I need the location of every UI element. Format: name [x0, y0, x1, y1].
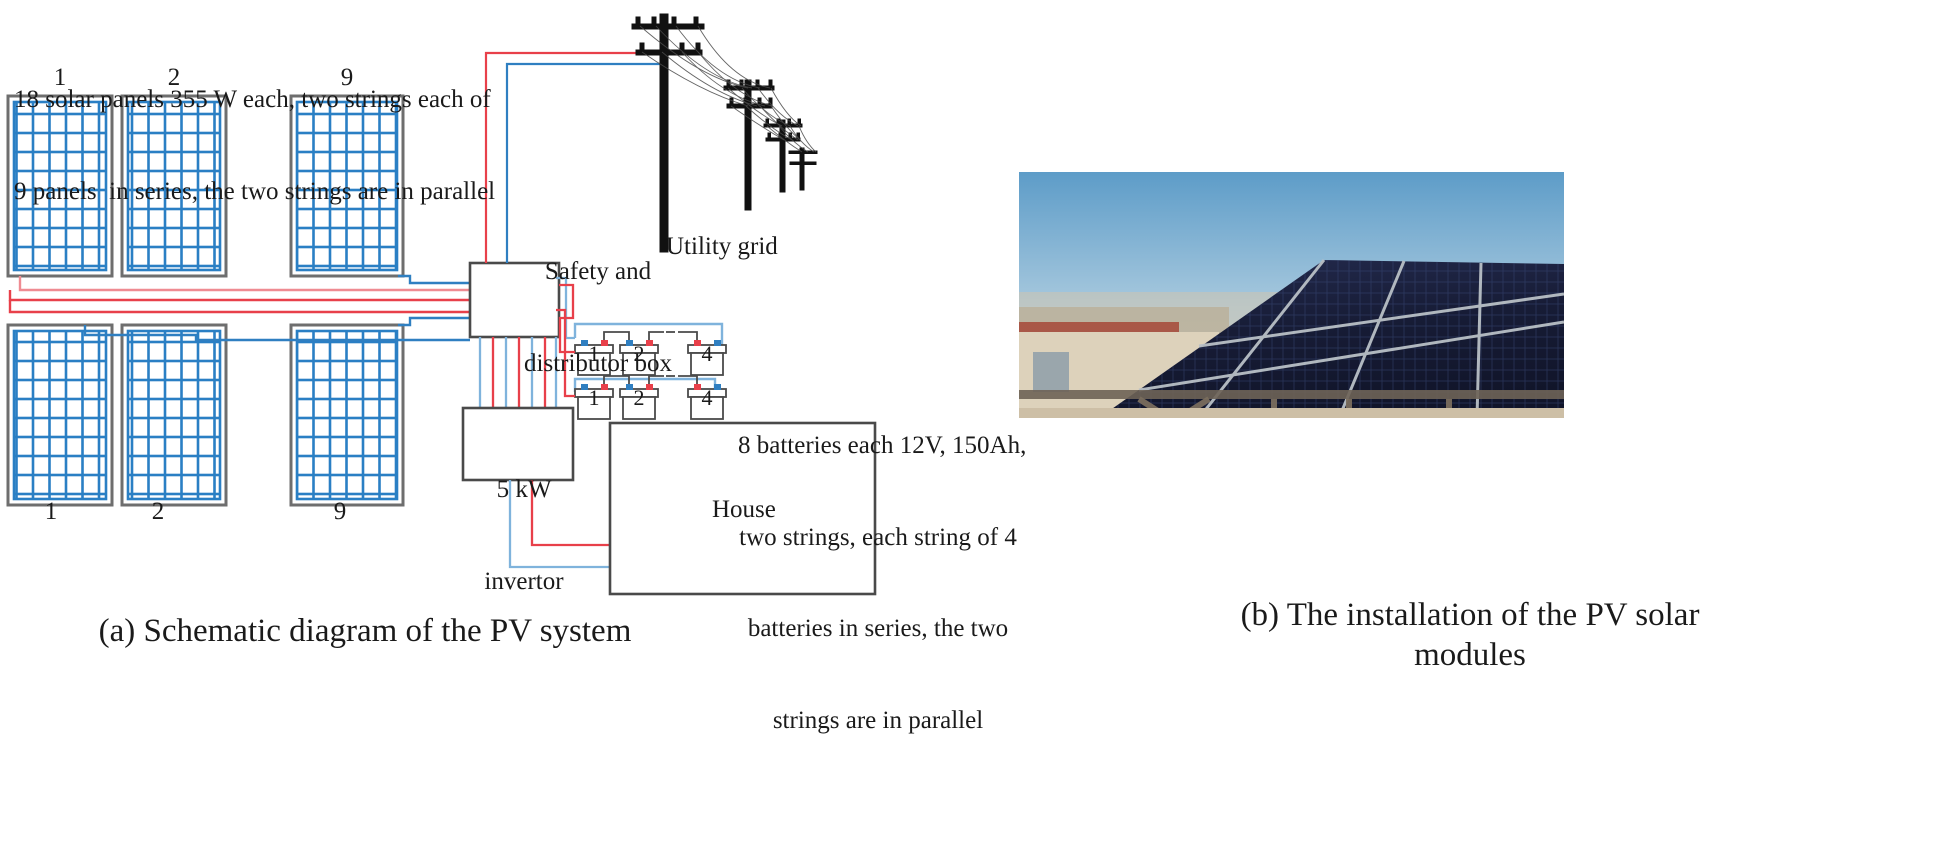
solar-panel-bottom-9: [291, 325, 403, 505]
caption-b-line1: (b) The installation of the PV solar: [1020, 595, 1920, 635]
safety-box-label-line1: Safety and: [518, 257, 678, 288]
house-label: House: [712, 495, 776, 526]
safety-box-label: Safety and distributor box: [518, 196, 678, 410]
inverter-label-line2: invertor: [472, 567, 576, 598]
batteries-note-line4: strings are in parallel: [738, 706, 1018, 737]
panel-number-top-1: 1: [40, 64, 80, 92]
inverter-label-line1: 5 kW: [472, 475, 576, 506]
batteries-note-line2: two strings, each string of 4: [738, 523, 1018, 554]
caption-b-line2: modules: [1020, 635, 1920, 675]
panels-note-line1: 18 solar panels 355 W each, two strings …: [14, 85, 495, 116]
string-wiring-top: [10, 276, 470, 300]
batteries-note-line3: batteries in series, the two: [738, 614, 1018, 645]
safety-box-label-line2: distributor box: [518, 349, 678, 380]
inverter-label: 5 kW invertor: [472, 414, 576, 628]
panel-number-top-9: 9: [327, 64, 367, 92]
caption-b: (b) The installation of the PV solar mod…: [1020, 595, 1920, 676]
batteries-note-line1: 8 batteries each 12V, 150Ah,: [738, 431, 1018, 462]
panel-number-bottom-2: 2: [138, 498, 178, 526]
panels-note: 18 solar panels 355 W each, two strings …: [14, 24, 495, 238]
figure-root: 18 solar panels 355 W each, two strings …: [0, 0, 1951, 867]
batteries-note: 8 batteries each 12V, 150Ah, two strings…: [738, 370, 1018, 767]
battery-number-top-4: 4: [688, 341, 726, 367]
caption-a: (a) Schematic diagram of the PV system: [55, 613, 675, 650]
solar-panel-bottom-2: [122, 325, 226, 505]
battery-number-bottom-4: 4: [688, 385, 726, 411]
pv-installation-photo: [1019, 172, 1564, 418]
panels-note-line2: 9 panels in series, the two strings are …: [14, 177, 495, 208]
panel-number-bottom-1: 1: [31, 498, 71, 526]
utility-grid-label: Utility grid: [666, 232, 778, 263]
panel-number-bottom-9: 9: [320, 498, 360, 526]
panel-number-top-2: 2: [154, 64, 194, 92]
solar-panel-bottom-1: [8, 325, 112, 505]
